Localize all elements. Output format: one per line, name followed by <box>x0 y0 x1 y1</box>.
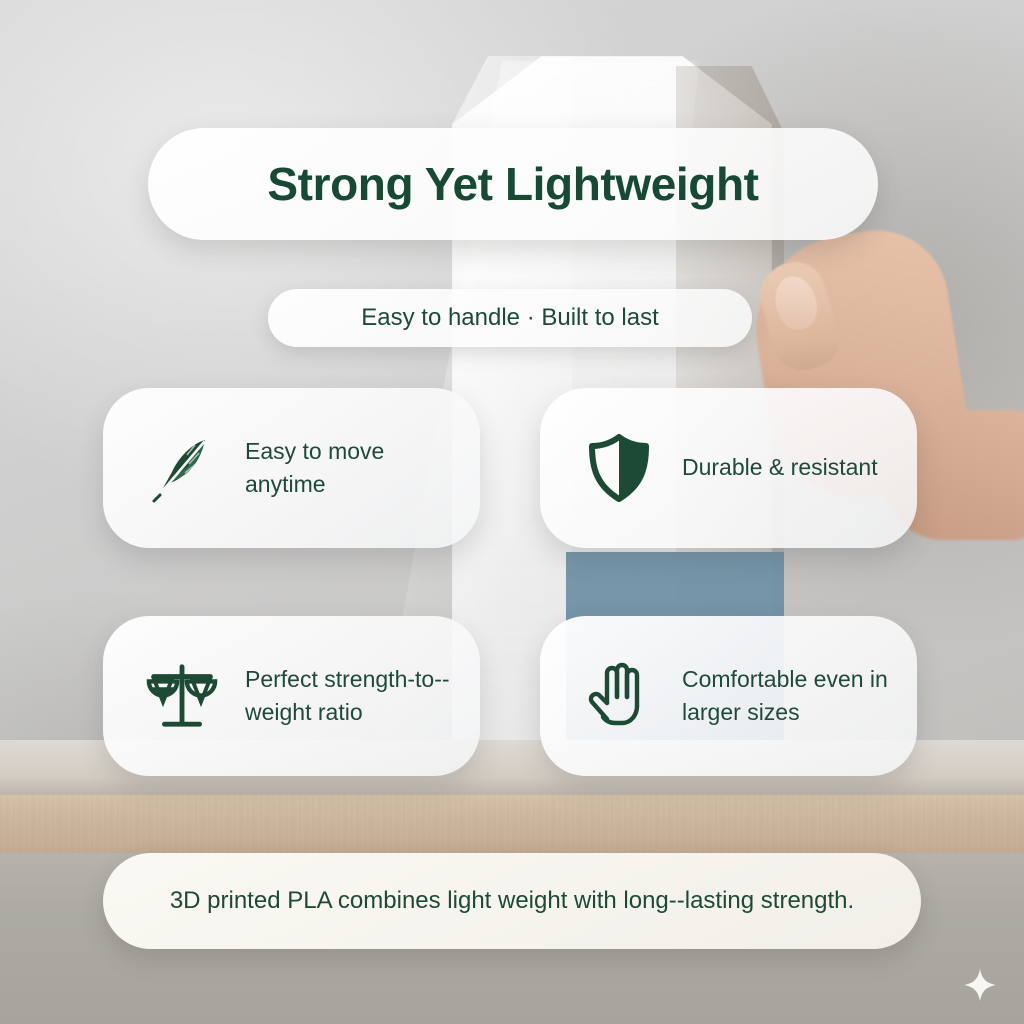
infographic-canvas: Strong Yet Lightweight Easy to handle · … <box>0 0 1024 1024</box>
feature-label: Durable & resistant <box>682 451 878 484</box>
shield-icon <box>582 431 656 505</box>
feature-card-comfortable[interactable]: Comfortable even in larger sizes <box>540 616 917 776</box>
feature-card-strength-weight-ratio[interactable]: Perfect strength-to--weight ratio <box>103 616 480 776</box>
open-hand-icon <box>582 659 656 733</box>
footer-text: 3D printed PLA combines light weight wit… <box>170 883 854 919</box>
feature-label: Perfect strength-to--weight ratio <box>245 663 462 730</box>
subtitle-pill: Easy to handle · Built to last <box>268 289 752 347</box>
page-subtitle: Easy to handle · Built to last <box>361 304 659 332</box>
feature-card-easy-to-move[interactable]: Easy to move anytime <box>103 388 480 548</box>
feature-card-durable[interactable]: Durable & resistant <box>540 388 917 548</box>
feature-label: Comfortable even in larger sizes <box>682 663 899 730</box>
feature-label: Easy to move anytime <box>245 435 462 502</box>
page-title: Strong Yet Lightweight <box>267 157 758 211</box>
balance-scale-icon <box>145 659 219 733</box>
feather-icon <box>145 431 219 505</box>
sparkle-icon <box>962 967 998 1003</box>
wooden-shelf-edge <box>0 795 1024 855</box>
footer-pill: 3D printed PLA combines light weight wit… <box>103 853 921 949</box>
title-pill: Strong Yet Lightweight <box>148 128 878 240</box>
